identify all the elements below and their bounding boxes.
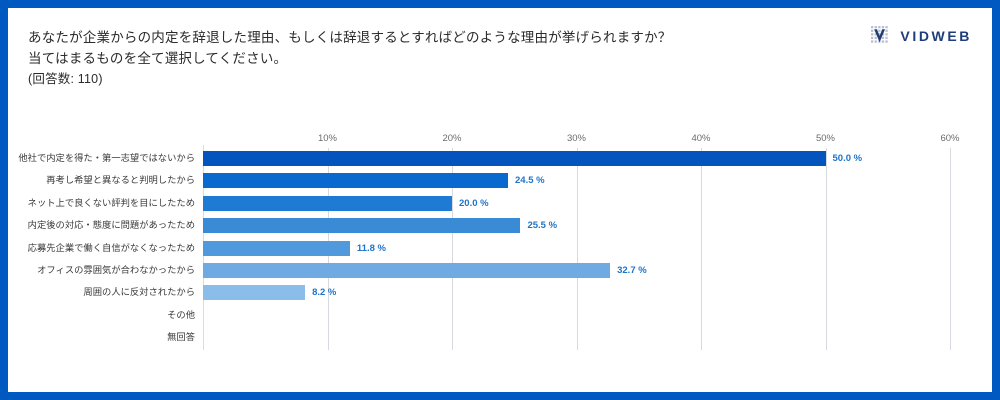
x-tick-label: 50% xyxy=(816,133,835,144)
bar[interactable] xyxy=(203,151,826,166)
bar-value-label: 24.5 % xyxy=(515,174,545,187)
bar-value-label: 25.5 % xyxy=(527,219,557,232)
bar-value-label: 32.7 % xyxy=(617,264,647,277)
chart-row: 応募先企業で働く自信がなくなったため11.8 % xyxy=(203,238,950,260)
bar-value-label: 11.8 % xyxy=(357,242,386,255)
plot-area: 他社で内定を得た・第一志望ではないから50.0 %再考し希望と異なると判明したか… xyxy=(203,148,950,350)
category-label: ネット上で良くない評判を目にしたため xyxy=(15,197,195,210)
x-tick-label: 30% xyxy=(567,133,586,144)
category-label: 内定後の対応・態度に問題があったため xyxy=(15,219,195,232)
bar-chart: 10%20%30%40%50%60% 他社で内定を得た・第一志望ではないから50… xyxy=(0,0,1000,400)
x-tick-label: 10% xyxy=(318,133,337,144)
bar-value-label: 50.0 % xyxy=(833,152,863,165)
bar[interactable] xyxy=(203,196,452,211)
category-label: オフィスの雰囲気が合わなかったから xyxy=(15,264,195,277)
chart-row: 他社で内定を得た・第一志望ではないから50.0 % xyxy=(203,148,950,170)
slide-canvas: あなたが企業からの内定を辞退した理由、もしくは辞退するとすればどのような理由が挙… xyxy=(0,0,1000,400)
category-label: 周囲の人に反対されたから xyxy=(15,286,195,299)
bar-value-label: 8.2 % xyxy=(312,286,336,299)
chart-row: 内定後の対応・態度に問題があったため25.5 % xyxy=(203,215,950,237)
gridline xyxy=(950,148,951,350)
x-tick-label: 60% xyxy=(940,133,959,144)
bar[interactable] xyxy=(203,285,305,300)
x-tick-label: 20% xyxy=(442,133,461,144)
bar[interactable] xyxy=(203,263,610,278)
category-label: 再考し希望と異なると判明したから xyxy=(15,174,195,187)
bar[interactable] xyxy=(203,218,520,233)
bar[interactable] xyxy=(203,173,508,188)
category-label: 応募先企業で働く自信がなくなったため xyxy=(15,242,195,255)
chart-row: 再考し希望と異なると判明したから24.5 % xyxy=(203,170,950,192)
category-label: 無回答 xyxy=(15,331,195,344)
bar[interactable] xyxy=(203,241,350,256)
chart-row: その他 xyxy=(203,305,950,327)
chart-row: ネット上で良くない評判を目にしたため20.0 % xyxy=(203,193,950,215)
bar-value-label: 20.0 % xyxy=(459,197,489,210)
chart-row: 無回答 xyxy=(203,327,950,349)
category-label: その他 xyxy=(15,309,195,322)
chart-row: 周囲の人に反対されたから8.2 % xyxy=(203,282,950,304)
category-label: 他社で内定を得た・第一志望ではないから xyxy=(15,152,195,165)
chart-row: オフィスの雰囲気が合わなかったから32.7 % xyxy=(203,260,950,282)
x-tick-label: 40% xyxy=(691,133,710,144)
